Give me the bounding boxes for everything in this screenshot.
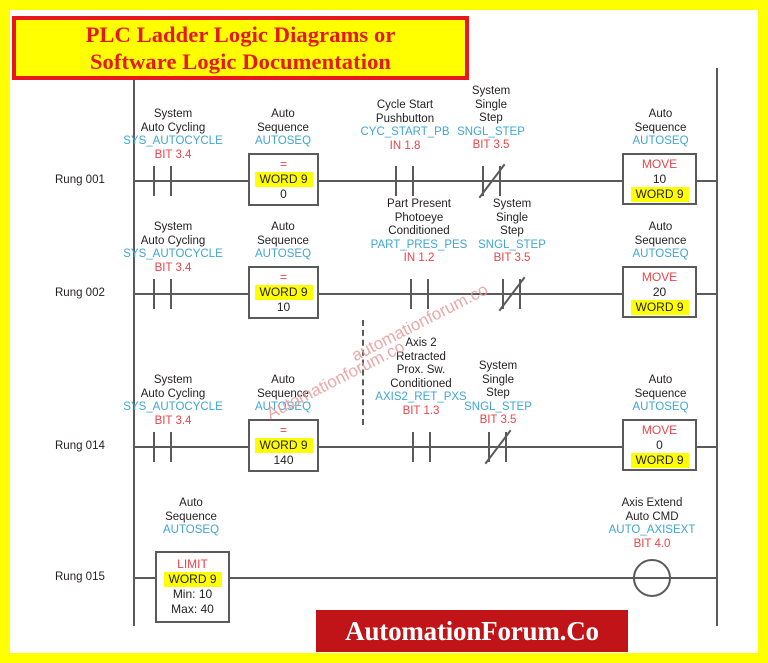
element-label-r15-auto-axisext: Axis Extend Auto CMD AUTO_AXISEXT BIT 4.… (592, 497, 712, 551)
contact-bar-right (429, 432, 431, 462)
title-line-2: Software Logic Documentation (90, 48, 391, 75)
rung-label-014: Rung 014 (55, 440, 105, 452)
contact-nc-r2-sngl-step[interactable] (502, 279, 521, 309)
element-label-r1-autoseq-compare: Auto Sequence AUTOSEQ (228, 108, 338, 149)
element-label-r14-autoseq-compare: Auto Sequence AUTOSEQ (228, 374, 338, 415)
instruction-box-compare-r14[interactable]: = WORD 9 140 (248, 419, 319, 472)
instruction-box-compare-r1[interactable]: = WORD 9 0 (248, 153, 319, 206)
contact-bar-left (410, 279, 412, 309)
element-label-r1-cyc-start-pb: Cycle Start Pushbutton CYC_START_PB IN 1… (350, 99, 460, 153)
contact-bar-left (153, 279, 155, 309)
rung-label-001: Rung 001 (55, 174, 105, 186)
rung-label-002: Rung 002 (55, 287, 105, 299)
element-label-r1-move-autoseq: Auto Sequence AUTOSEQ (608, 108, 713, 149)
contact-bar-right (170, 279, 172, 309)
contact-nc-r1-sngl-step[interactable] (482, 166, 501, 196)
element-label-r2-part-pres-pes: Part Present Photoeye Conditioned PART_P… (365, 198, 473, 266)
contact-bar-left (153, 432, 155, 462)
instruction-box-move-r1[interactable]: MOVE 10 WORD 9 (622, 153, 697, 205)
contact-no-r2-part-pres-pes[interactable] (410, 279, 429, 309)
element-label-r1-sys-autocycle: System Auto Cycling SYS_AUTOCYCLE BIT 3.… (113, 108, 233, 162)
diagram-page: PLC Ladder Logic Diagrams or Software Lo… (10, 10, 758, 653)
contact-bar-left (395, 166, 397, 196)
right-power-rail (716, 68, 718, 626)
element-label-r14-sngl-step: System Single Step SNGL_STEP BIT 3.5 (458, 360, 538, 428)
rung-break-dashed-line (362, 320, 364, 425)
element-label-r2-autoseq-compare: Auto Sequence AUTOSEQ (228, 221, 338, 262)
contact-nc-r14-sngl-step[interactable] (488, 432, 507, 462)
element-label-r14-move-autoseq: Auto Sequence AUTOSEQ (608, 374, 713, 415)
title-line-1: PLC Ladder Logic Diagrams or (86, 21, 396, 48)
title-banner: PLC Ladder Logic Diagrams or Software Lo… (12, 16, 469, 80)
element-label-r2-sngl-step: System Single Step SNGL_STEP BIT 3.5 (472, 198, 552, 266)
watermark-banner-text: AutomationForum.Co (345, 616, 599, 647)
contact-bar-right (412, 166, 414, 196)
instruction-box-move-r14[interactable]: MOVE 0 WORD 9 (622, 419, 697, 471)
element-label-r1-sngl-step: System Single Step SNGL_STEP BIT 3.5 (451, 85, 531, 153)
contact-bar-right (170, 432, 172, 462)
rung-label-015: Rung 015 (55, 571, 105, 583)
watermark-banner: AutomationForum.Co (316, 610, 628, 652)
instruction-box-move-r2[interactable]: MOVE 20 WORD 9 (622, 266, 697, 318)
element-label-r15-limit-autoseq: Auto Sequence AUTOSEQ (143, 497, 239, 538)
contact-no-r1-sys-autocycle[interactable] (153, 166, 172, 196)
element-label-r2-sys-autocycle: System Auto Cycling SYS_AUTOCYCLE BIT 3.… (113, 221, 233, 275)
output-coil-auto-axisext[interactable] (633, 559, 671, 597)
contact-no-r14-sys-autocycle[interactable] (153, 432, 172, 462)
contact-no-r14-axis2-ret-pxs[interactable] (412, 432, 431, 462)
instruction-box-compare-r2[interactable]: = WORD 9 10 (248, 266, 319, 319)
contact-no-r2-sys-autocycle[interactable] (153, 279, 172, 309)
instruction-box-limit-r15[interactable]: LIMIT WORD 9 Min: 10 Max: 40 (155, 551, 230, 623)
contact-bar-left (153, 166, 155, 196)
element-label-r14-axis2-ret-pxs: Axis 2 Retracted Prox. Sw. Conditioned A… (371, 337, 471, 418)
contact-bar-right (427, 279, 429, 309)
contact-no-r1-cyc-start-pb[interactable] (395, 166, 414, 196)
element-label-r2-move-autoseq: Auto Sequence AUTOSEQ (608, 221, 713, 262)
element-label-r14-sys-autocycle: System Auto Cycling SYS_AUTOCYCLE BIT 3.… (113, 374, 233, 428)
contact-bar-right (170, 166, 172, 196)
contact-bar-left (412, 432, 414, 462)
